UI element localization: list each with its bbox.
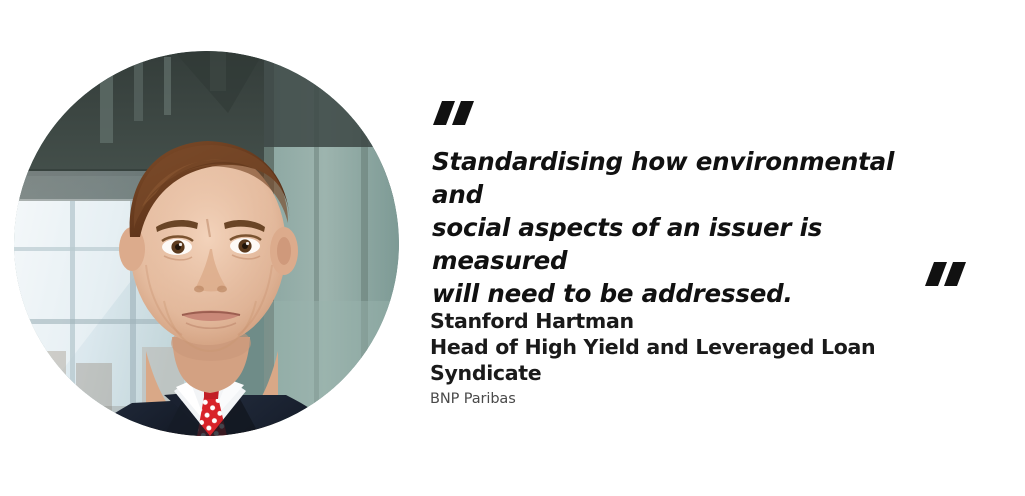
quote-mark-icon	[925, 259, 969, 289]
portrait-image	[14, 51, 399, 436]
avatar	[14, 51, 399, 436]
quote-close-icon	[925, 259, 969, 289]
quote-mark-icon	[433, 98, 477, 128]
author-name: Stanford Hartman	[430, 308, 970, 334]
attribution: Stanford Hartman Head of High Yield and …	[430, 308, 970, 410]
quote-open-icon	[433, 98, 477, 128]
quote-text: Standardising how environmental and soci…	[432, 145, 902, 310]
author-role: Head of High Yield and Leveraged Loan Sy…	[430, 334, 970, 386]
testimonial-card: Standardising how environmental and soci…	[0, 0, 1025, 496]
author-company: BNP Paribas	[430, 388, 970, 410]
